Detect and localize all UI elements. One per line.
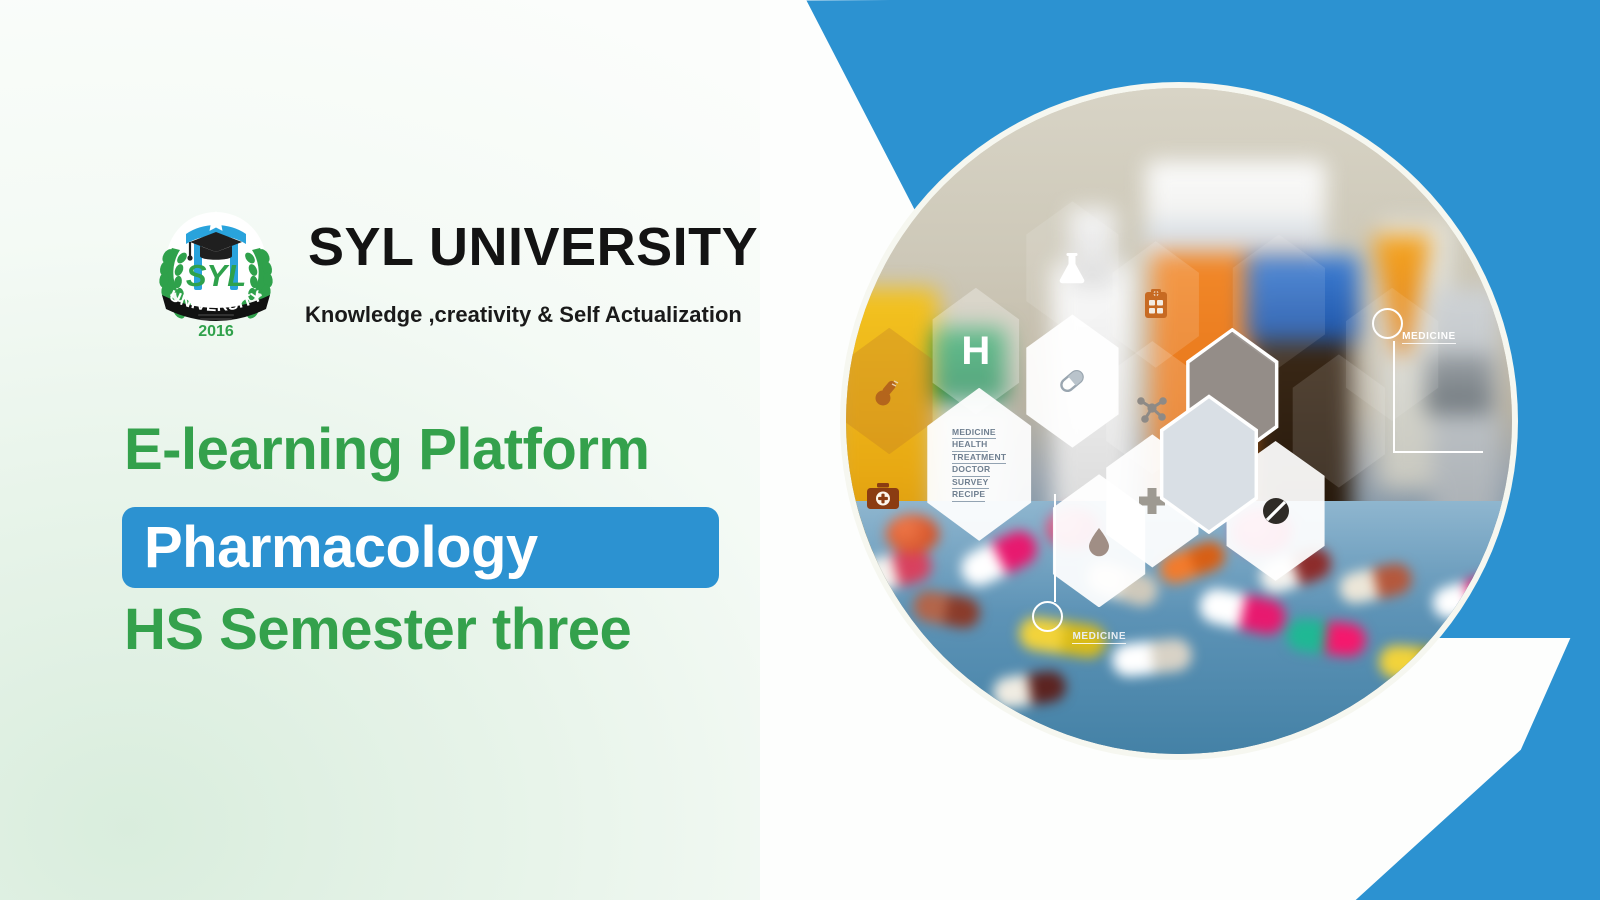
keyword-survey: SURVEY [952, 477, 989, 490]
logo-year: 2016 [198, 323, 234, 340]
logo-initials: SYL [186, 258, 246, 293]
flask-icon [1019, 201, 1126, 334]
thermometer-icon [846, 328, 939, 455]
marker-leader-upper [1393, 341, 1395, 451]
marker-label-upper: MEDICINE [1402, 331, 1456, 344]
keyword-list: MEDICINE HEALTH TREATMENT DOCTOR SURVEY … [952, 427, 1006, 502]
keyword-medicine: MEDICINE [952, 427, 996, 440]
keyword-health: HEALTH [952, 439, 988, 452]
marker-leader-upper-h [1393, 451, 1483, 453]
subject-badge-label: Pharmacology [122, 514, 538, 581]
pharmacy-photo-circle: H [846, 88, 1512, 754]
keyword-doctor: DOCTOR [952, 464, 990, 477]
keyword-recipe: RECIPE [952, 489, 985, 502]
headline-line-1: E-learning Platform [124, 416, 649, 483]
university-logo: SYL UNIVERSITY 2016 [150, 196, 282, 342]
brand-tagline: Knowledge ,creativity & Self Actualizati… [305, 302, 742, 328]
hex-outline-lower [1152, 394, 1265, 534]
marker-label-lower: MEDICINE [1072, 631, 1126, 644]
subject-badge: Pharmacology [122, 507, 719, 588]
brand-name: SYL UNIVERSITY [308, 216, 758, 278]
headline-line-3: HS Semester three [124, 596, 631, 663]
hexagon-overlay: H [846, 88, 1512, 754]
first-aid-kit-icon [846, 434, 933, 561]
marker-circle-upper [1372, 308, 1403, 339]
marker-circle-lower [1032, 601, 1063, 632]
keyword-treatment: TREATMENT [952, 452, 1006, 465]
poster-canvas: H [0, 0, 1600, 900]
marker-leader-lower [1054, 494, 1056, 602]
keyword-list-hex: MEDICINE HEALTH TREATMENT DOCTOR SURVEY … [919, 388, 1039, 541]
